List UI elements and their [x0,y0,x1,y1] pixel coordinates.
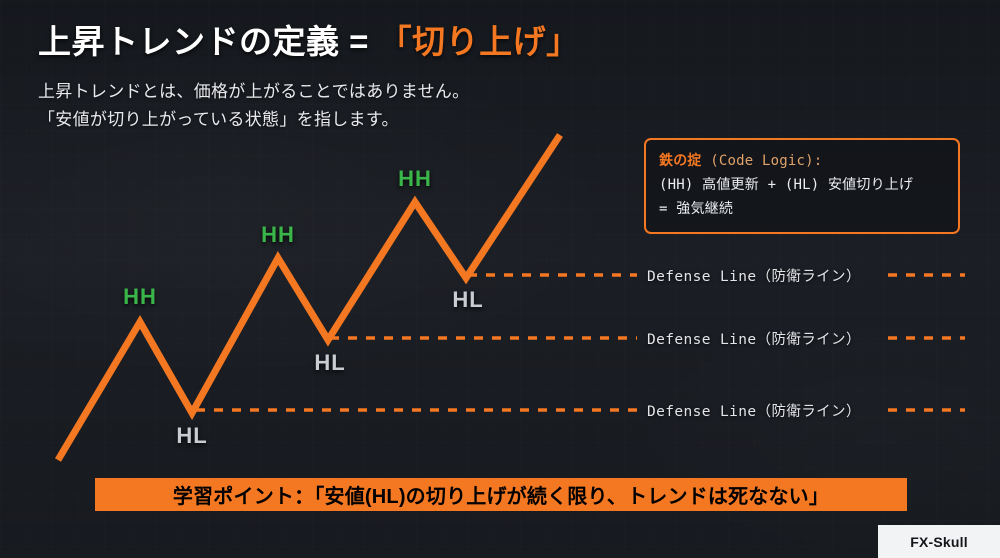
code-logic-law-label: 鉄の掟 [659,153,702,169]
code-logic-line-2: (HH) 高値更新 + (HL) 安値切り上げ [659,173,945,197]
code-logic-line-3: = 強気継続 [659,197,945,221]
watermark-text: FX-Skull [910,534,968,550]
slide-canvas: 上昇トレンドの定義 = 「切り上げ」 上昇トレンドとは、価格が上がることではあり… [0,0,1000,558]
higher-high-label: HH [398,166,432,192]
higher-low-label: HL [314,350,345,376]
code-logic-heading: 鉄の掟 (Code Logic): [659,149,945,173]
learning-point-text: 学習ポイント：「安値(HL)の切り上げが続く限り、トレンドは死なない」 [173,480,829,509]
code-logic-title: (Code Logic): [710,153,822,169]
higher-low-label: HL [176,423,207,449]
defense-line-label: Defense Line（防衛ライン） [647,400,861,421]
defense-line-label: Defense Line（防衛ライン） [647,265,861,286]
code-logic-box: 鉄の掟 (Code Logic): (HH) 高値更新 + (HL) 安値切り上… [644,138,960,234]
learning-point-banner: 学習ポイント：「安値(HL)の切り上げが続く限り、トレンドは死なない」 [95,478,907,511]
higher-high-label: HH [261,222,295,248]
defense-line-label: Defense Line（防衛ライン） [647,328,861,349]
higher-low-label: HL [452,287,483,313]
watermark-badge: FX-Skull [878,525,1000,558]
higher-high-label: HH [123,284,157,310]
